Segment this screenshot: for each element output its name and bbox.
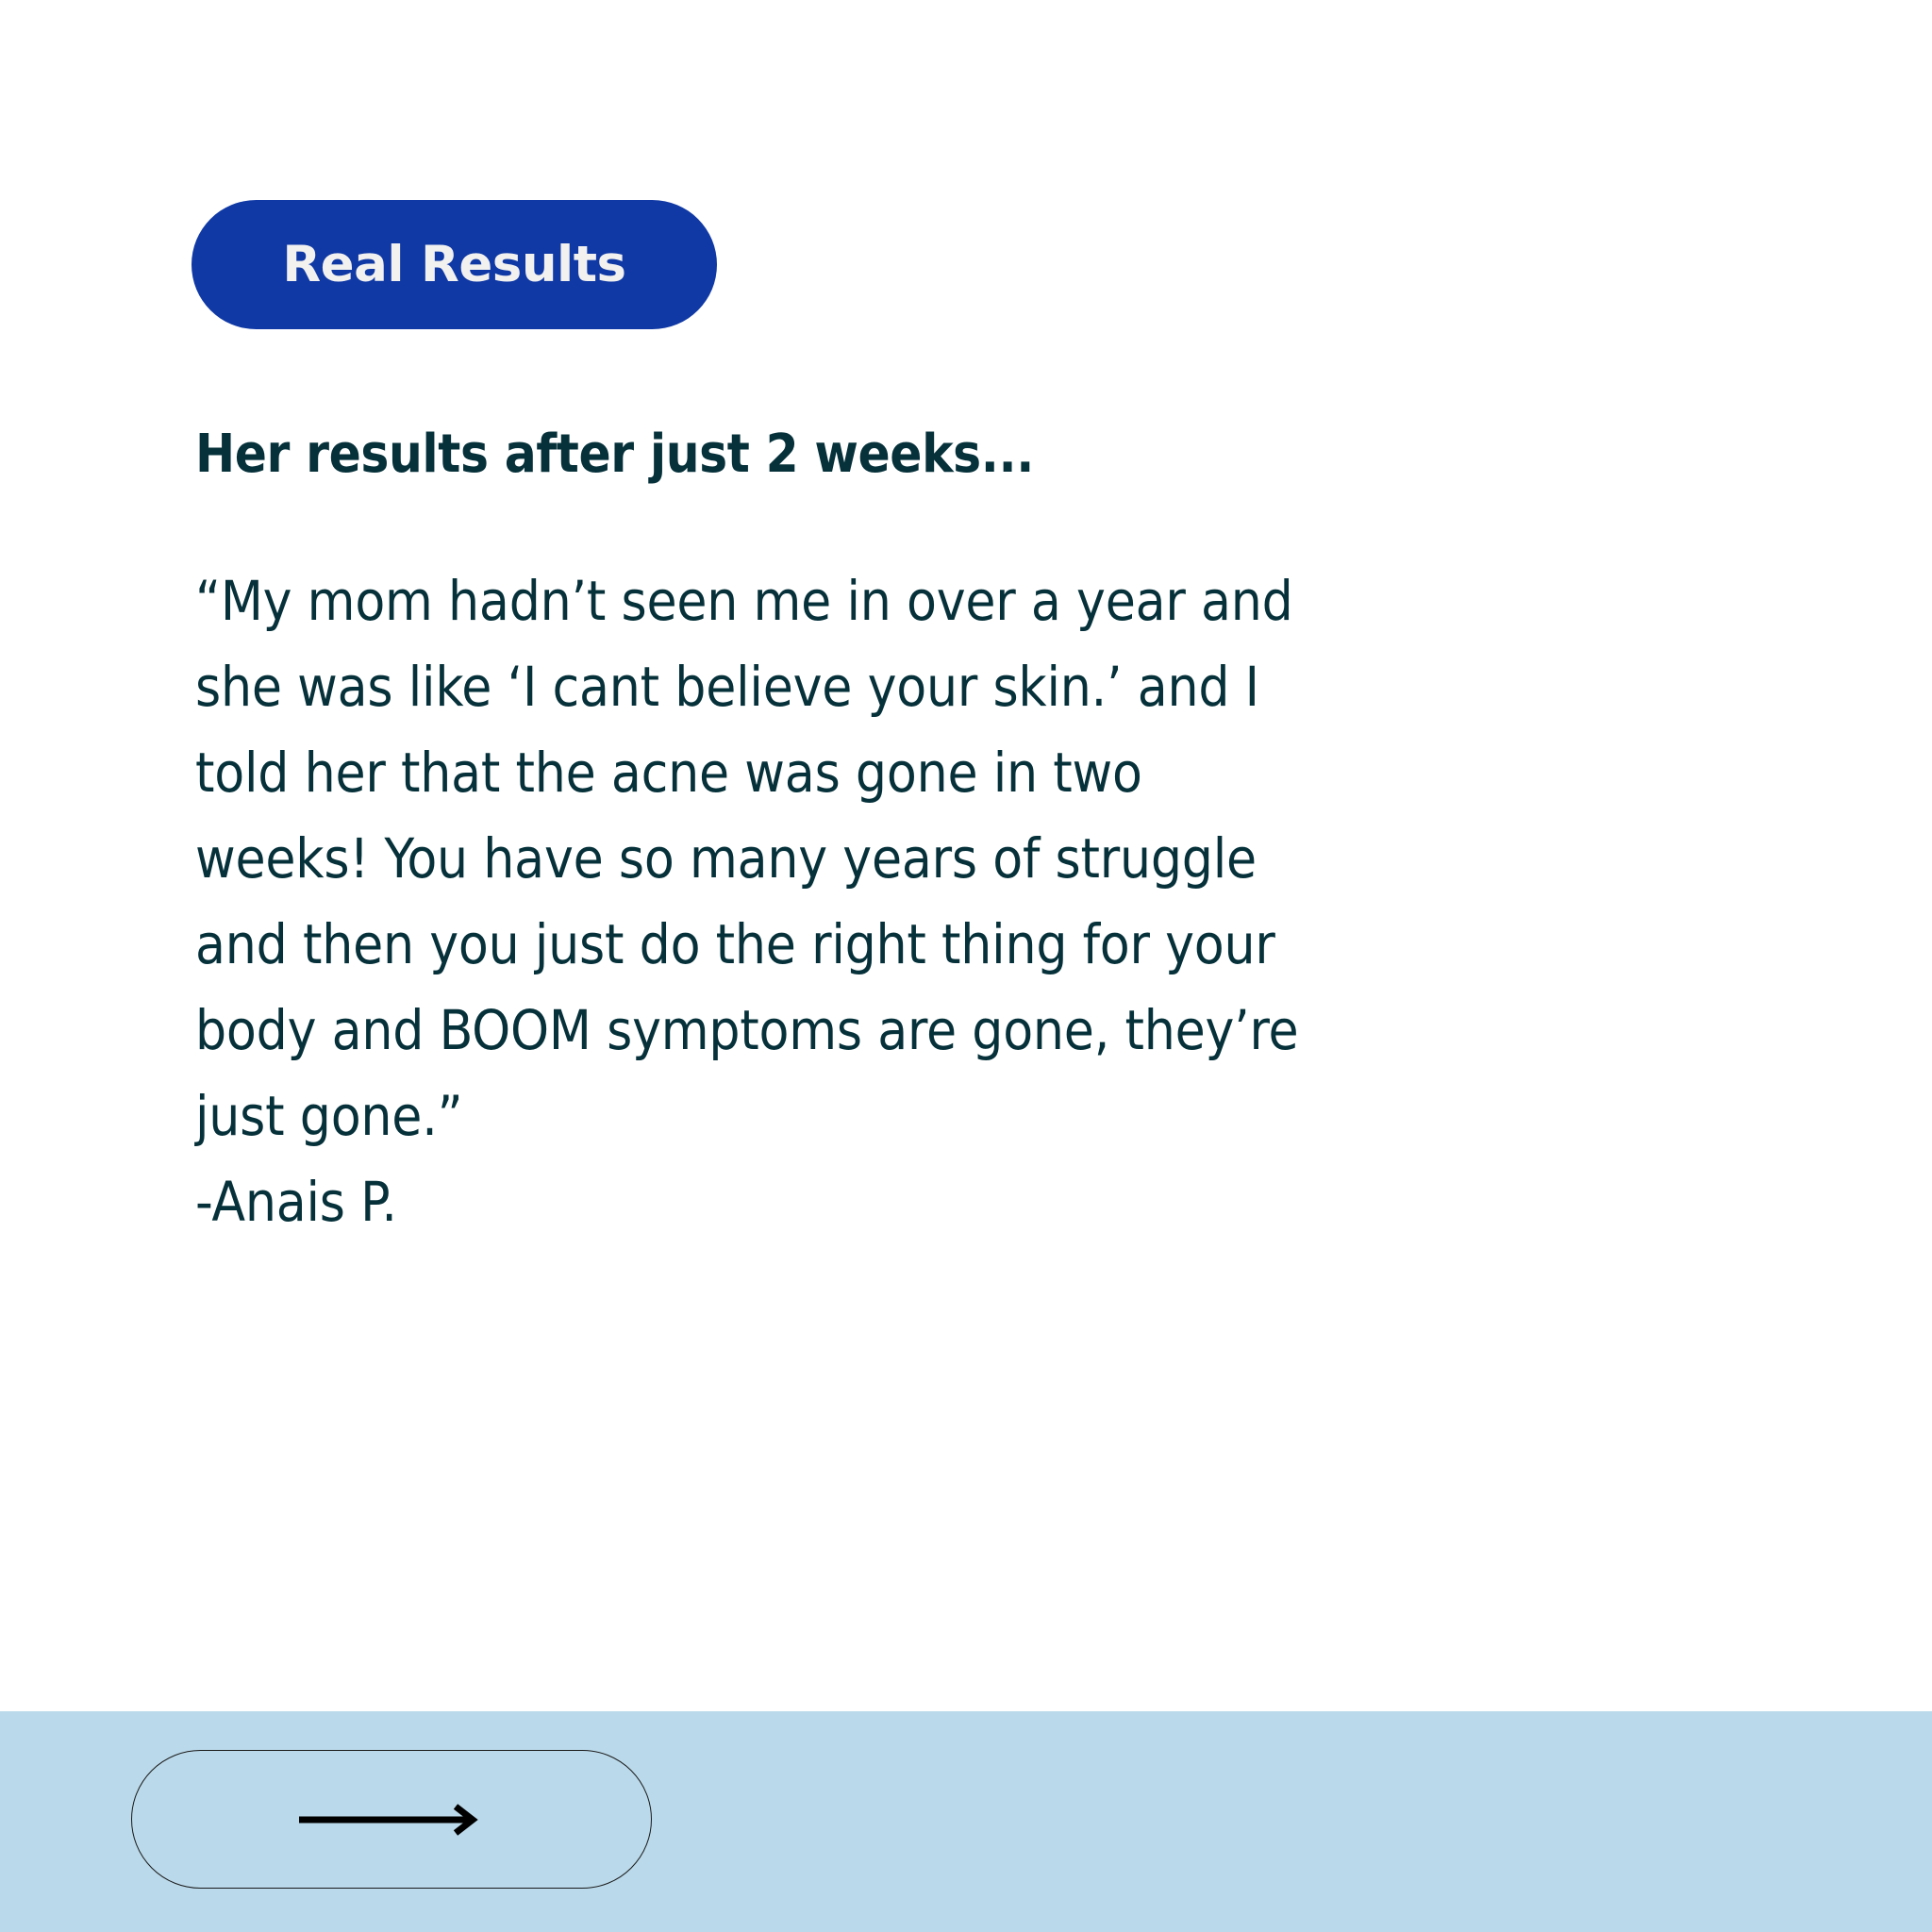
- arrow-right-icon: [297, 1801, 486, 1839]
- bottom-navigation-bar: [0, 1711, 1932, 1932]
- real-results-badge: Real Results: [192, 200, 717, 329]
- badge-label: Real Results: [282, 240, 625, 290]
- testimonial-attribution: -Anais P.: [195, 1159, 1705, 1245]
- testimonial-content: Her results after just 2 weeks... “My mo…: [195, 425, 1705, 1245]
- next-button[interactable]: [131, 1750, 652, 1889]
- testimonial-page: Real Results Her results after just 2 we…: [0, 0, 1932, 1932]
- page-title: Her results after just 2 weeks...: [195, 425, 1705, 485]
- testimonial-quote-text: “My mom hadn’t seen me in over a year an…: [195, 558, 1318, 1159]
- testimonial-quote-block: “My mom hadn’t seen me in over a year an…: [195, 558, 1705, 1245]
